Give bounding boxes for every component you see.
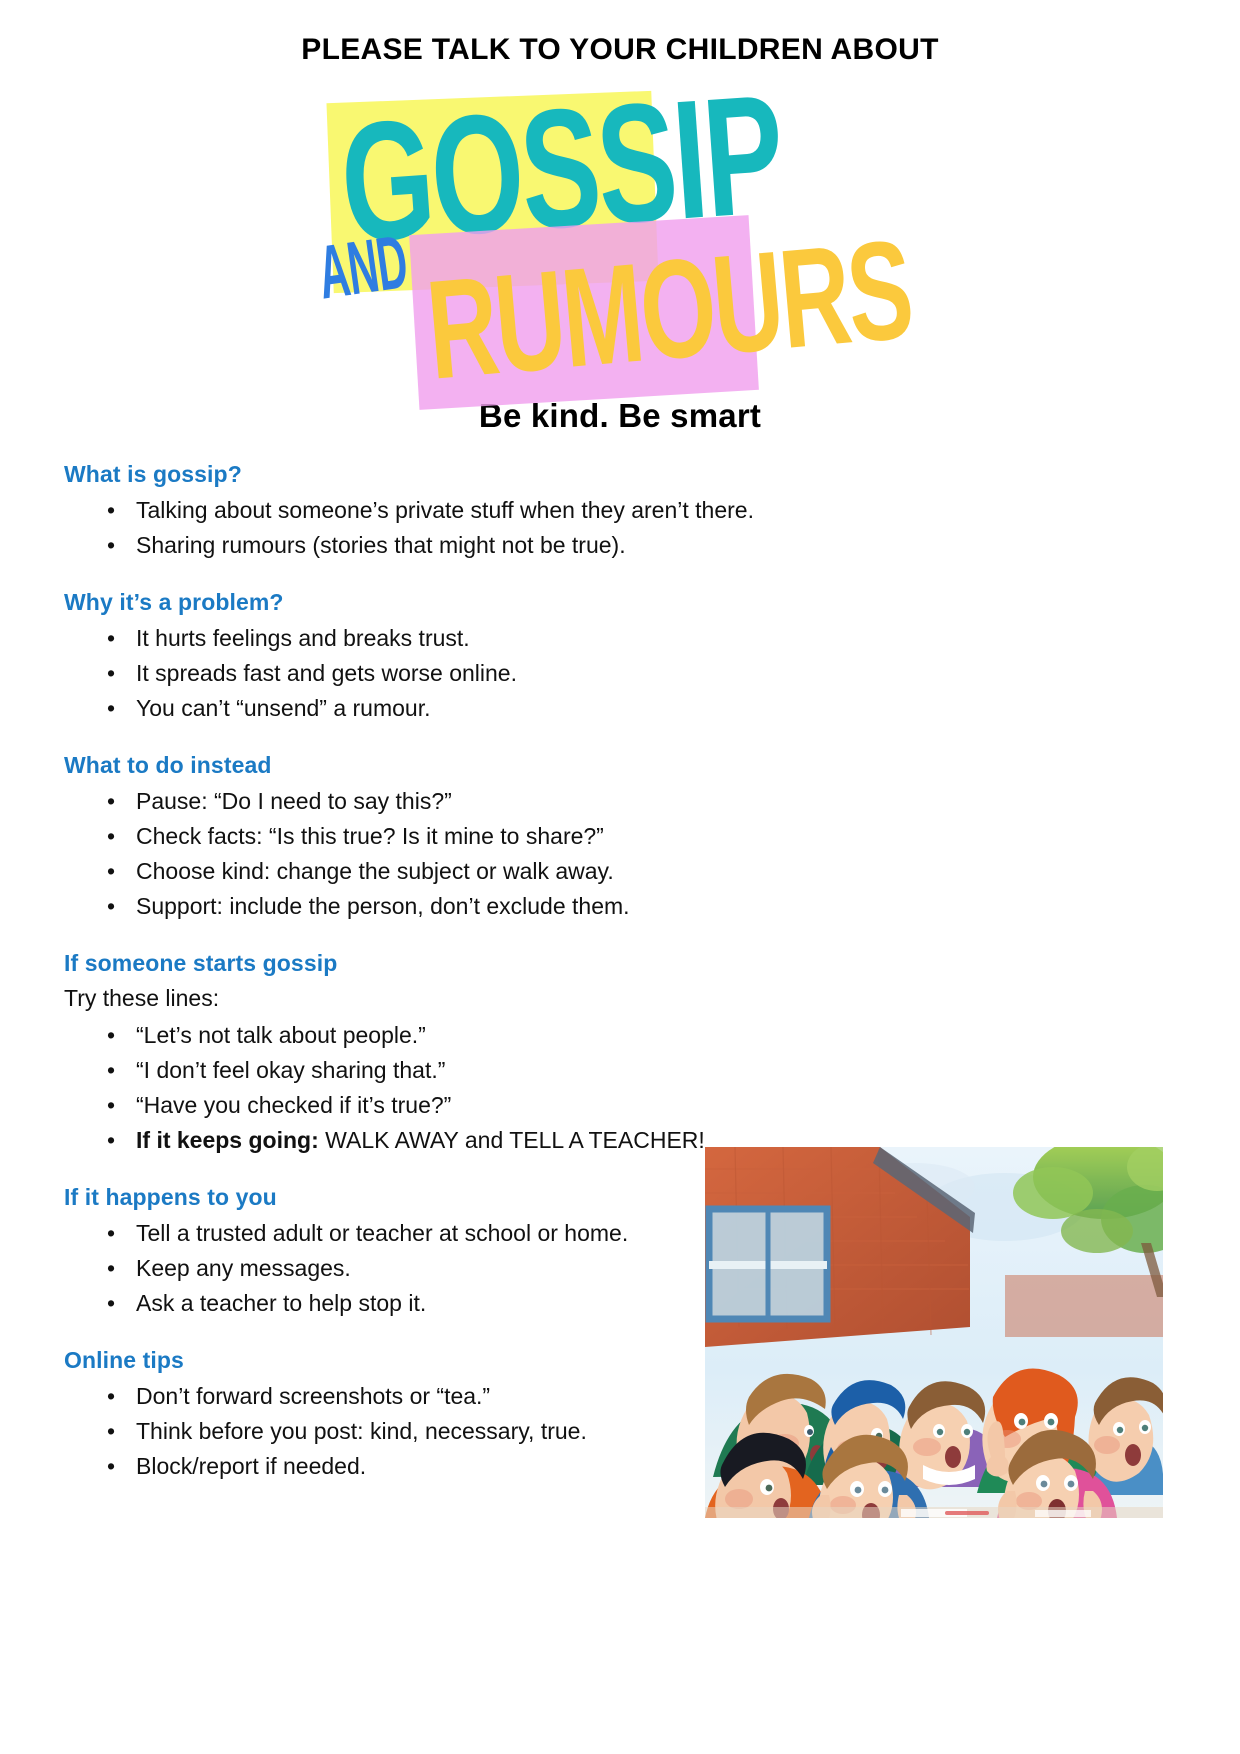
logo-word-rumours: RUMOURS — [422, 219, 916, 401]
logo-word-and: AND — [314, 225, 411, 312]
list-item-label: “I don’t feel okay sharing that.” — [136, 1057, 445, 1083]
list-item: •It hurts feelings and breaks trust. — [104, 621, 1176, 656]
section-heading: Online tips — [64, 1347, 1176, 1374]
list-item-label: Pause: “Do I need to say this?” — [136, 788, 452, 814]
list-item-label: Support: include the person, don’t exclu… — [136, 893, 630, 919]
list-item-label: Talking about someone’s private stuff wh… — [136, 497, 754, 523]
list-item-label: It hurts feelings and breaks trust. — [136, 625, 470, 651]
list-item-label: Think before you post: kind, necessary, … — [136, 1418, 587, 1444]
list-item: •Keep any messages. — [104, 1251, 1176, 1286]
section-what-to-do-instead: What to do instead •Pause: “Do I need to… — [64, 752, 1176, 924]
list-item: •It spreads fast and gets worse online. — [104, 656, 1176, 691]
bullet-icon: • — [107, 1018, 115, 1053]
bullet-icon: • — [107, 784, 115, 819]
list-item-label: “Have you checked if it’s true?” — [136, 1092, 451, 1118]
section-heading: If someone starts gossip — [64, 950, 1176, 977]
list-item-label: Check facts: “Is this true? Is it mine t… — [136, 823, 604, 849]
list-item: •Support: include the person, don’t excl… — [104, 889, 1176, 924]
section-lead-text: Try these lines: — [64, 982, 1176, 1015]
bullet-icon: • — [107, 691, 115, 726]
section-why-its-a-problem: Why it’s a problem? •It hurts feelings a… — [64, 589, 1176, 726]
bullet-icon: • — [107, 1286, 115, 1321]
list-item-label: WALK AWAY and TELL A TEACHER! — [319, 1127, 705, 1153]
list-item-label: Block/report if needed. — [136, 1453, 366, 1479]
bullet-list: •“Let’s not talk about people.” •“I don’… — [64, 1018, 1176, 1158]
list-item-label: Ask a teacher to help stop it. — [136, 1290, 426, 1316]
bullet-icon: • — [107, 1251, 115, 1286]
bullet-icon: • — [107, 493, 115, 528]
bullet-icon: • — [107, 621, 115, 656]
list-item: •Don’t forward screenshots or “tea.” — [104, 1379, 1176, 1414]
list-item-label: You can’t “unsend” a rumour. — [136, 695, 431, 721]
section-heading: What to do instead — [64, 752, 1176, 779]
page-title: PLEASE TALK TO YOUR CHILDREN ABOUT — [0, 0, 1240, 67]
bullet-icon: • — [107, 1216, 115, 1251]
section-online-tips: Online tips •Don’t forward screenshots o… — [64, 1347, 1176, 1484]
list-item-label: Choose kind: change the subject or walk … — [136, 858, 614, 884]
logo-lockup: GOSSIP AND RUMOURS — [0, 79, 1240, 419]
list-item: •Sharing rumours (stories that might not… — [104, 528, 1176, 563]
section-what-is-gossip: What is gossip? •Talking about someone’s… — [64, 461, 1176, 563]
list-item: •Talking about someone’s private stuff w… — [104, 493, 1176, 528]
list-item: •“Let’s not talk about people.” — [104, 1018, 1176, 1053]
bullet-icon: • — [107, 656, 115, 691]
section-if-someone-starts-gossip: If someone starts gossip Try these lines… — [64, 950, 1176, 1158]
list-item: •Check facts: “Is this true? Is it mine … — [104, 819, 1176, 854]
list-item: •Choose kind: change the subject or walk… — [104, 854, 1176, 889]
bullet-icon: • — [107, 1414, 115, 1449]
section-heading: Why it’s a problem? — [64, 589, 1176, 616]
list-item-emphasised: •If it keeps going: WALK AWAY and TELL A… — [104, 1123, 1176, 1158]
list-item: •Pause: “Do I need to say this?” — [104, 784, 1176, 819]
list-item-label: Keep any messages. — [136, 1255, 351, 1281]
bullet-list: •Tell a trusted adult or teacher at scho… — [64, 1216, 1176, 1321]
bullet-icon: • — [107, 1379, 115, 1414]
list-item: •Tell a trusted adult or teacher at scho… — [104, 1216, 1176, 1251]
content-body: What is gossip? •Talking about someone’s… — [0, 435, 1240, 1483]
bullet-list: •Don’t forward screenshots or “tea.” •Th… — [64, 1379, 1176, 1484]
poster-page: PLEASE TALK TO YOUR CHILDREN ABOUT GOSSI… — [0, 0, 1240, 1754]
list-item-label: Sharing rumours (stories that might not … — [136, 532, 626, 558]
bullet-list: •It hurts feelings and breaks trust. •It… — [64, 621, 1176, 726]
list-item: •Block/report if needed. — [104, 1449, 1176, 1484]
bullet-icon: • — [107, 1088, 115, 1123]
list-item-label: It spreads fast and gets worse online. — [136, 660, 517, 686]
list-item-label: “Let’s not talk about people.” — [136, 1022, 426, 1048]
section-heading: If it happens to you — [64, 1184, 1176, 1211]
bullet-icon: • — [107, 819, 115, 854]
list-item-bold-lead: If it keeps going: — [136, 1127, 319, 1153]
list-item: •Think before you post: kind, necessary,… — [104, 1414, 1176, 1449]
bullet-icon: • — [107, 1123, 115, 1158]
bullet-icon: • — [107, 528, 115, 563]
section-heading: What is gossip? — [64, 461, 1176, 488]
bullet-list: •Talking about someone’s private stuff w… — [64, 493, 1176, 563]
list-item: •“I don’t feel okay sharing that.” — [104, 1053, 1176, 1088]
list-item-label: Tell a trusted adult or teacher at schoo… — [136, 1220, 628, 1246]
bullet-icon: • — [107, 889, 115, 924]
bullet-icon: • — [107, 854, 115, 889]
list-item: •Ask a teacher to help stop it. — [104, 1286, 1176, 1321]
list-item-label: Don’t forward screenshots or “tea.” — [136, 1383, 490, 1409]
list-item: •“Have you checked if it’s true?” — [104, 1088, 1176, 1123]
list-item: •You can’t “unsend” a rumour. — [104, 691, 1176, 726]
bullet-icon: • — [107, 1449, 115, 1484]
section-if-it-happens-to-you: If it happens to you •Tell a trusted adu… — [64, 1184, 1176, 1321]
bullet-icon: • — [107, 1053, 115, 1088]
logo-stage: GOSSIP AND RUMOURS — [330, 79, 800, 419]
bullet-list: •Pause: “Do I need to say this?” •Check … — [64, 784, 1176, 924]
